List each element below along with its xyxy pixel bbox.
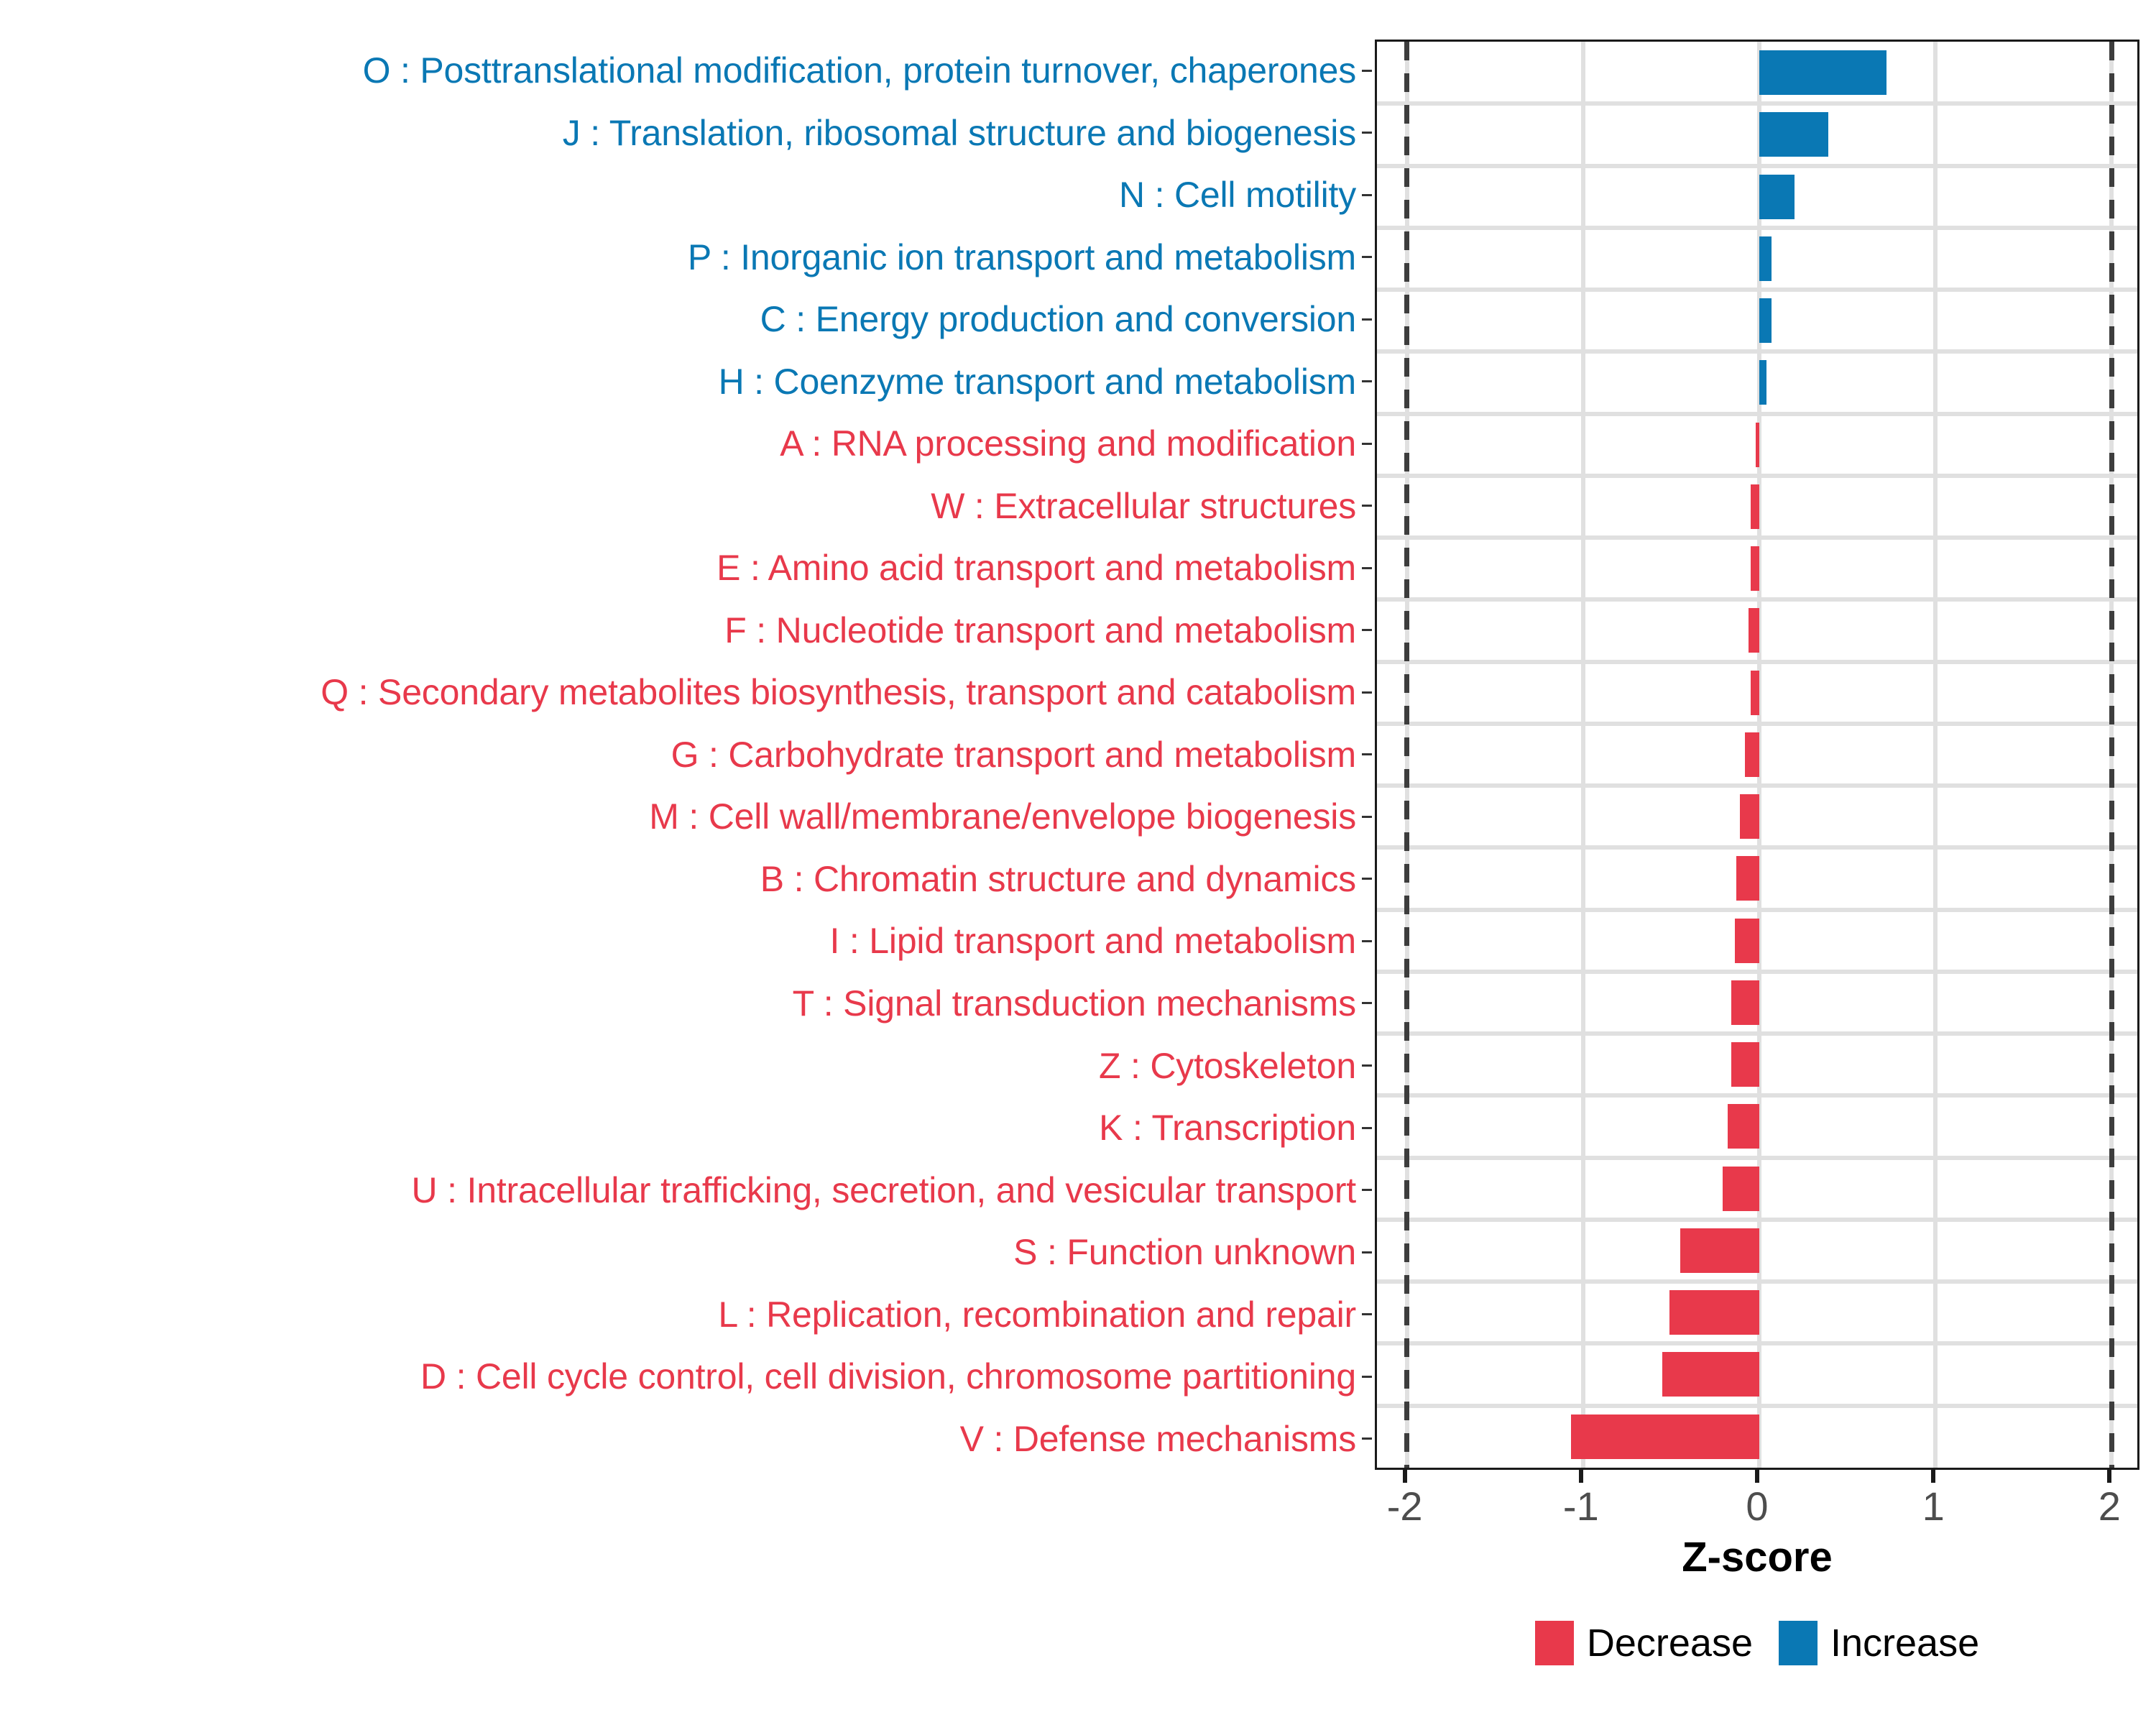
bar-row[interactable]	[1377, 1352, 2137, 1397]
category-label: F : Nucleotide transport and metabolism	[724, 612, 1362, 649]
x-axis-tick-label: 0	[1746, 1483, 1768, 1529]
bar[interactable]	[1728, 1104, 1759, 1149]
y-axis-tick	[1362, 1127, 1372, 1129]
category-label: J : Translation, ribosomal structure and…	[563, 114, 1362, 152]
bar[interactable]	[1745, 732, 1759, 777]
category-label: M : Cell wall/membrane/envelope biogenes…	[649, 798, 1362, 835]
y-axis-tick	[1362, 1251, 1372, 1253]
x-axis-tick	[1755, 1470, 1759, 1483]
bar-row[interactable]	[1377, 298, 2137, 343]
category-label: A : RNA processing and modification	[780, 425, 1362, 462]
legend-item[interactable]: Increase	[1779, 1621, 1979, 1665]
y-axis-tick	[1362, 1376, 1372, 1378]
category-label: Q : Secondary metabolites biosynthesis, …	[321, 673, 1362, 711]
x-axis-tick-label: -1	[1563, 1483, 1599, 1529]
y-axis-tick-column	[1362, 40, 1375, 1470]
y-axis-tick	[1362, 380, 1372, 382]
y-axis-tick	[1362, 753, 1372, 755]
category-label-column: O : Posttranslational modification, prot…	[0, 40, 1362, 1470]
bar-row[interactable]	[1377, 50, 2137, 95]
y-axis-tick	[1362, 505, 1372, 507]
y-axis-tick	[1362, 1189, 1372, 1191]
category-label: G : Carbohydrate transport and metabolis…	[671, 736, 1362, 773]
y-axis-tick	[1362, 691, 1372, 694]
bar[interactable]	[1740, 794, 1759, 839]
category-label: L : Replication, recombination and repai…	[718, 1296, 1362, 1333]
category-label: V : Defense mechanisms	[960, 1420, 1362, 1458]
x-axis-tick-label: 1	[1922, 1483, 1945, 1529]
bar[interactable]	[1735, 919, 1759, 963]
category-label: T : Signal transduction mechanisms	[793, 985, 1362, 1022]
bar[interactable]	[1759, 298, 1772, 343]
bar[interactable]	[1680, 1228, 1759, 1273]
bar[interactable]	[1751, 484, 1759, 529]
bar[interactable]	[1731, 980, 1759, 1025]
x-axis-tick-labels: -2-1012	[1375, 1483, 2139, 1533]
y-axis-tick	[1362, 940, 1372, 942]
legend-label: Decrease	[1587, 1621, 1753, 1665]
y-axis-tick	[1362, 1437, 1372, 1440]
y-axis-tick	[1362, 1313, 1372, 1315]
bar[interactable]	[1759, 360, 1766, 405]
x-axis-tick	[1931, 1470, 1935, 1483]
y-axis-tick	[1362, 194, 1372, 196]
legend-label: Increase	[1830, 1621, 1979, 1665]
legend-swatch	[1779, 1621, 1818, 1665]
category-label: D : Cell cycle control, cell division, c…	[420, 1358, 1362, 1395]
bar[interactable]	[1723, 1167, 1759, 1211]
bar-row[interactable]	[1377, 175, 2137, 219]
category-label: K : Transcription	[1099, 1109, 1362, 1146]
bar-series	[1377, 42, 2137, 1468]
category-label: E : Amino acid transport and metabolism	[717, 549, 1362, 586]
bar-row[interactable]	[1377, 980, 2137, 1025]
bar-row[interactable]	[1377, 1228, 2137, 1273]
y-axis-tick	[1362, 1002, 1372, 1004]
category-label: Z : Cytoskeleton	[1099, 1047, 1362, 1085]
bar-row[interactable]	[1377, 423, 2137, 467]
x-axis-tick-marks	[1375, 1470, 2139, 1483]
bar-row[interactable]	[1377, 1290, 2137, 1335]
y-axis-tick	[1362, 318, 1372, 321]
category-label: U : Intracellular trafficking, secretion…	[412, 1172, 1362, 1209]
y-axis-tick	[1362, 567, 1372, 569]
bar-row[interactable]	[1377, 608, 2137, 653]
bar[interactable]	[1669, 1290, 1759, 1335]
y-axis-tick	[1362, 443, 1372, 445]
x-axis-tick	[1403, 1470, 1407, 1483]
x-axis-tick-label: -2	[1387, 1483, 1423, 1529]
x-axis-tick	[2107, 1470, 2111, 1483]
y-axis-tick	[1362, 70, 1372, 72]
bar-row[interactable]	[1377, 856, 2137, 901]
bar[interactable]	[1759, 236, 1772, 281]
bar-row[interactable]	[1377, 484, 2137, 529]
category-label: W : Extracellular structures	[931, 487, 1362, 525]
bar[interactable]	[1736, 856, 1759, 901]
bar[interactable]	[1571, 1414, 1759, 1459]
category-label: S : Function unknown	[1013, 1233, 1362, 1271]
category-label: I : Lipid transport and metabolism	[830, 922, 1362, 960]
bar-row[interactable]	[1377, 546, 2137, 591]
bar-row[interactable]	[1377, 1042, 2137, 1087]
legend-swatch	[1535, 1621, 1574, 1665]
y-axis-tick	[1362, 256, 1372, 258]
bar-row[interactable]	[1377, 112, 2137, 157]
x-axis-tick	[1579, 1470, 1583, 1483]
bar-row[interactable]	[1377, 732, 2137, 777]
cog-zscore-bar-chart: O : Posttranslational modification, prot…	[0, 0, 2156, 1725]
category-label: B : Chromatin structure and dynamics	[760, 860, 1362, 898]
bar-row[interactable]	[1377, 360, 2137, 405]
bar-row[interactable]	[1377, 236, 2137, 281]
bar-row[interactable]	[1377, 794, 2137, 839]
y-axis-tick	[1362, 1064, 1372, 1067]
y-axis-tick	[1362, 878, 1372, 880]
y-axis-tick	[1362, 816, 1372, 818]
bar-row[interactable]	[1377, 1414, 2137, 1459]
y-axis-tick	[1362, 629, 1372, 631]
bar[interactable]	[1662, 1352, 1759, 1397]
bar-row[interactable]	[1377, 919, 2137, 963]
legend: DecreaseIncrease	[1375, 1621, 2139, 1665]
bar[interactable]	[1751, 546, 1759, 591]
legend-item[interactable]: Decrease	[1535, 1621, 1753, 1665]
category-label: H : Coenzyme transport and metabolism	[719, 363, 1362, 400]
bar[interactable]	[1759, 50, 1886, 95]
bar[interactable]	[1751, 671, 1759, 715]
plot-panel	[1375, 40, 2139, 1470]
category-label: N : Cell motility	[1119, 176, 1362, 213]
category-label: O : Posttranslational modification, prot…	[363, 52, 1362, 89]
bar-row[interactable]	[1377, 1167, 2137, 1211]
bar[interactable]	[1759, 175, 1795, 219]
bar[interactable]	[1749, 608, 1759, 653]
y-axis-tick	[1362, 132, 1372, 134]
bar-row[interactable]	[1377, 671, 2137, 715]
bar[interactable]	[1759, 112, 1828, 157]
bar[interactable]	[1756, 423, 1759, 467]
bar-row[interactable]	[1377, 1104, 2137, 1149]
x-axis-title: Z-score	[1375, 1533, 2139, 1581]
x-axis-tick-label: 2	[2099, 1483, 2121, 1529]
category-label: P : Inorganic ion transport and metaboli…	[688, 239, 1362, 276]
category-label: C : Energy production and conversion	[760, 300, 1362, 338]
bar[interactable]	[1731, 1042, 1759, 1087]
